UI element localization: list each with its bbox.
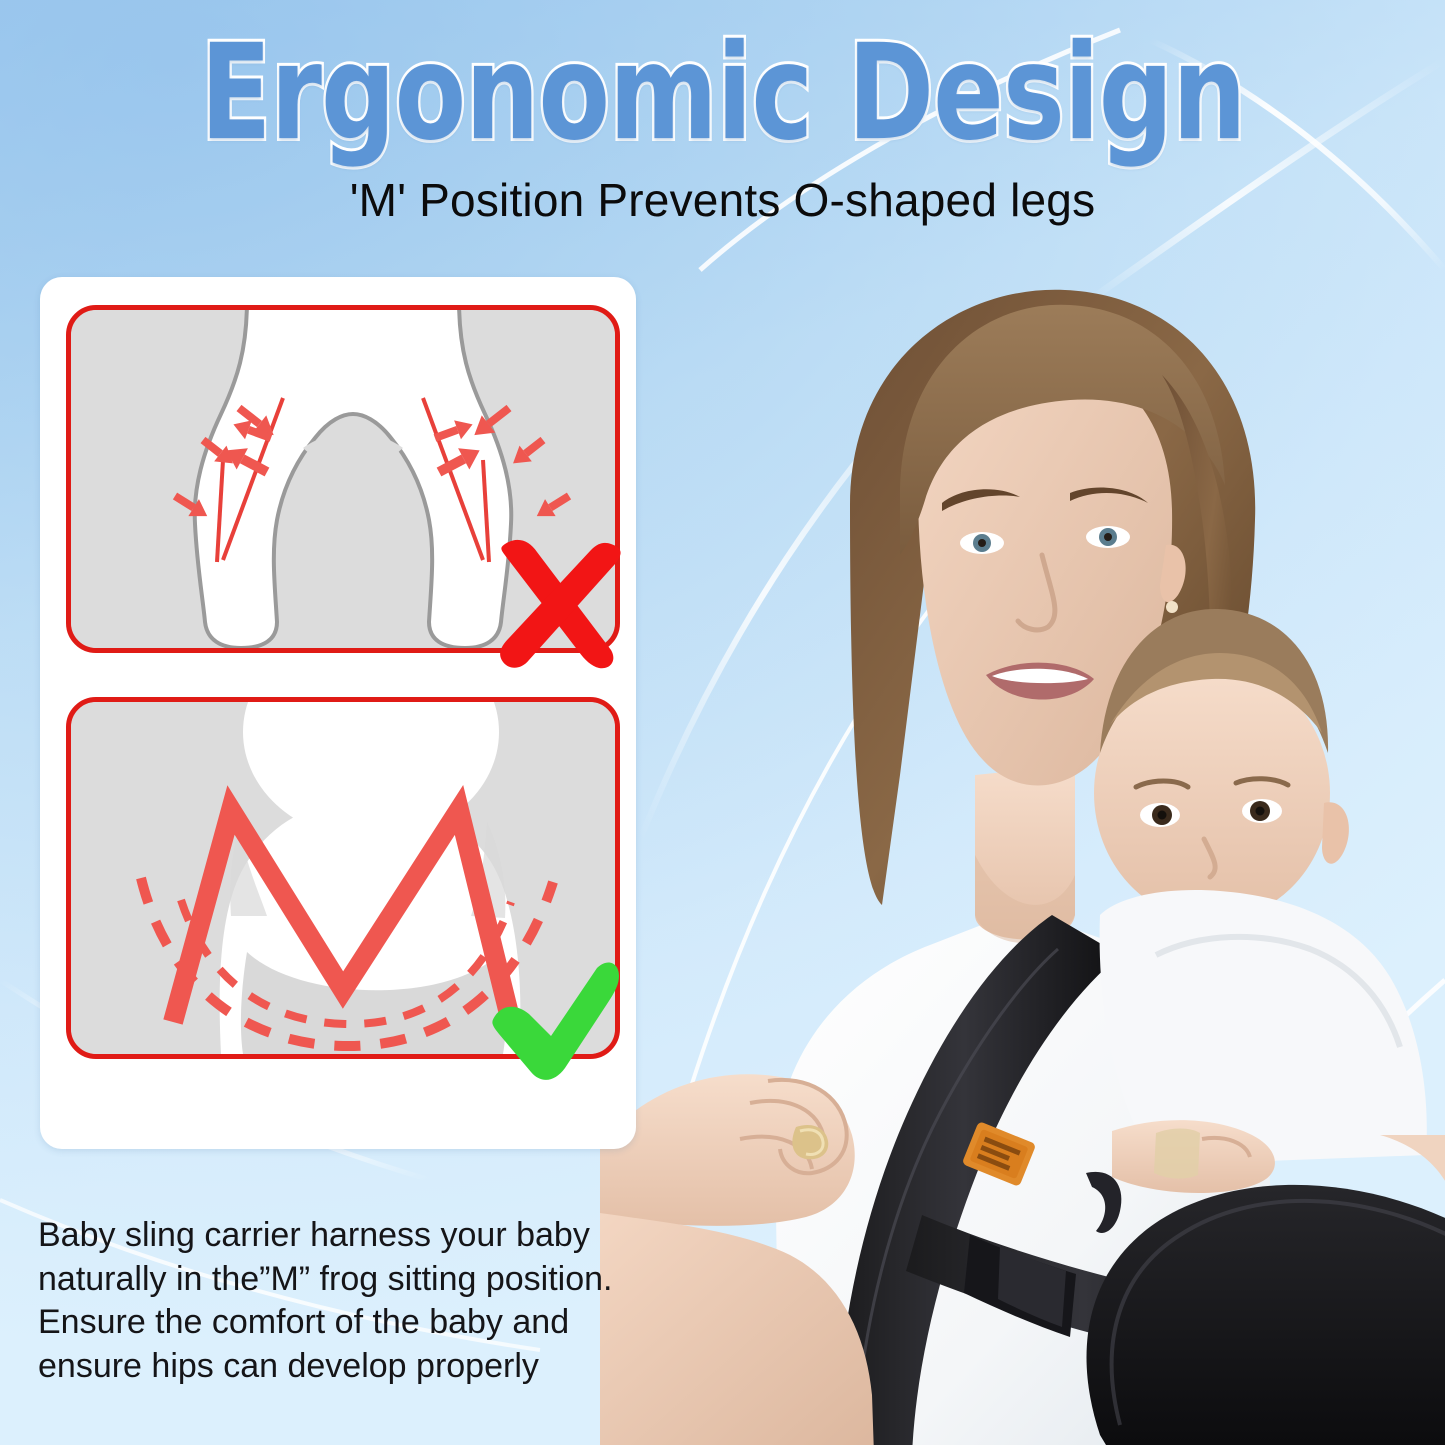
mother-and-baby-photo bbox=[600, 255, 1445, 1445]
page-subtitle: 'M' Position Prevents O-shaped legs bbox=[350, 173, 1096, 227]
o-shaped-legs-panel bbox=[66, 305, 620, 653]
green-check-icon bbox=[489, 960, 621, 1082]
m-position-panel bbox=[66, 697, 620, 1059]
title-container: Ergonomic Design bbox=[0, 26, 1445, 140]
diagram-card bbox=[40, 277, 636, 1149]
product-infographic: Ergonomic Design 'M' Position Prevents O… bbox=[0, 0, 1445, 1445]
red-cross-icon bbox=[483, 524, 633, 674]
page-title: Ergonomic Design bbox=[200, 26, 1245, 161]
subtitle-container: 'M' Position Prevents O-shaped legs bbox=[0, 173, 1445, 227]
product-description-text: Baby sling carrier harness your baby nat… bbox=[38, 1214, 668, 1388]
